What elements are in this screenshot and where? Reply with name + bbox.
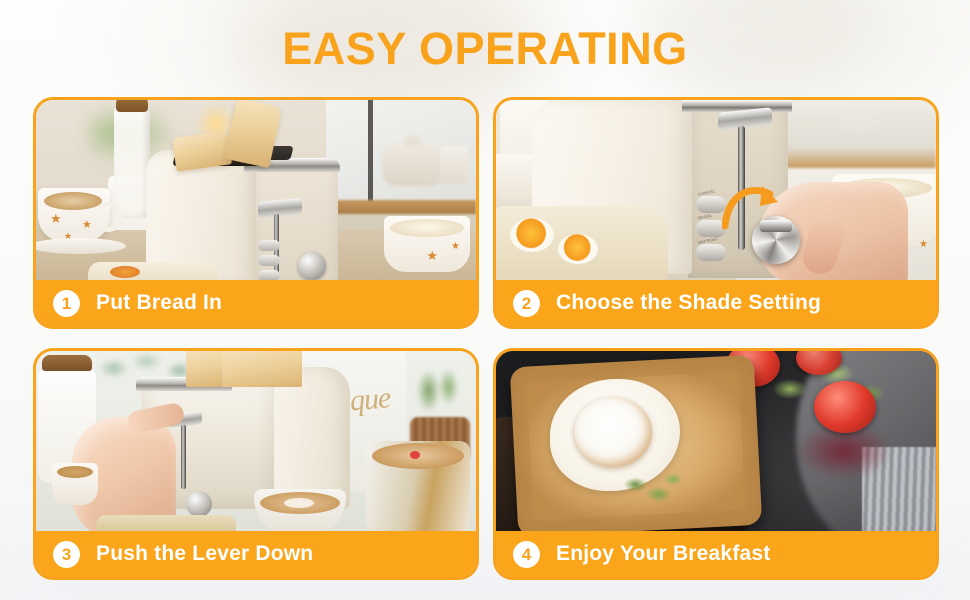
gold-rim-mug-icon [366,441,470,537]
step-label: Push the Lever Down [96,542,313,566]
carafe-lid [42,355,92,371]
window-sill [326,200,476,214]
step-caption-3: 3 Push the Lever Down [36,531,476,577]
bagel-button-label: BAGEL [698,213,713,221]
scene-toaster-bread-insert: ★ ★ ★ ★ ★ [36,100,476,286]
step-photo-3: Bistique [36,351,476,537]
step-caption-4: 4 Enjoy Your Breakfast [496,531,936,577]
bowls-icon [778,102,908,138]
step-card-4: 4 Enjoy Your Breakfast [493,348,939,580]
step-number-badge: 1 [53,290,80,317]
toaster-shade-dial [298,252,326,280]
step-label: Put Bread In [96,291,222,315]
fried-egg-icon [558,234,598,264]
control-button [258,240,280,251]
egg-yolk-icon [574,397,652,467]
steps-grid: ★ ★ ★ ★ ★ 1 Put Bread In [33,97,939,580]
star-decor-icon: ★ [64,232,72,241]
scene-egg-in-hole-toast [496,351,936,537]
star-decor-icon: ★ [919,240,928,250]
defrost-button: DEFROST [696,244,726,261]
fried-egg-icon [510,218,554,252]
latte-bowl-icon [254,489,346,537]
step-card-1: ★ ★ ★ ★ ★ 1 Put Bread In [33,97,479,329]
milk-bottle-icon [114,106,150,218]
step-photo-1: ★ ★ ★ ★ ★ [36,100,476,286]
step-number-badge: 3 [53,541,80,568]
star-decor-icon: ★ [451,242,460,252]
star-decor-icon: ★ [50,212,62,225]
step-number-badge: 2 [513,290,540,317]
infographic-root: EASY OPERATING [0,0,970,600]
step-number-badge: 4 [513,541,540,568]
arugula-leaf-icon [620,467,682,511]
toaster-shade-dial [186,491,212,517]
cork-lid [116,100,148,112]
curved-arrow-icon [722,180,784,232]
coffee-mug-icon [52,463,98,505]
toaster-lever-rod [181,425,186,489]
toast-slice-icon [222,351,302,387]
step-label: Choose the Shade Setting [556,291,821,315]
latte-cup-icon [38,188,110,242]
cherry-tomato-icon [814,381,876,433]
background-mug-icon [440,146,468,184]
pot-icon [382,144,444,186]
scene-hand-turning-shade-knob: CANCEL BAGEL DEFROST ★ ★ [496,100,936,286]
step-photo-2: CANCEL BAGEL DEFROST ★ ★ [496,100,936,286]
step-caption-2: 2 Choose the Shade Setting [496,280,936,326]
step-photo-4 [496,351,936,537]
scene-hand-pushing-lever: Bistique [36,351,476,537]
star-decor-icon: ★ [82,220,92,231]
step-card-3: Bistique [33,348,479,580]
control-button [258,255,280,266]
defrost-button-label: DEFROST [698,236,719,245]
page-title: EASY OPERATING [0,22,970,76]
step-label: Enjoy Your Breakfast [556,542,770,566]
step-card-2: CANCEL BAGEL DEFROST ★ ★ [493,97,939,329]
step-caption-1: 1 Put Bread In [36,280,476,326]
toast-slice-icon [186,351,224,387]
star-decor-icon: ★ [426,249,438,262]
